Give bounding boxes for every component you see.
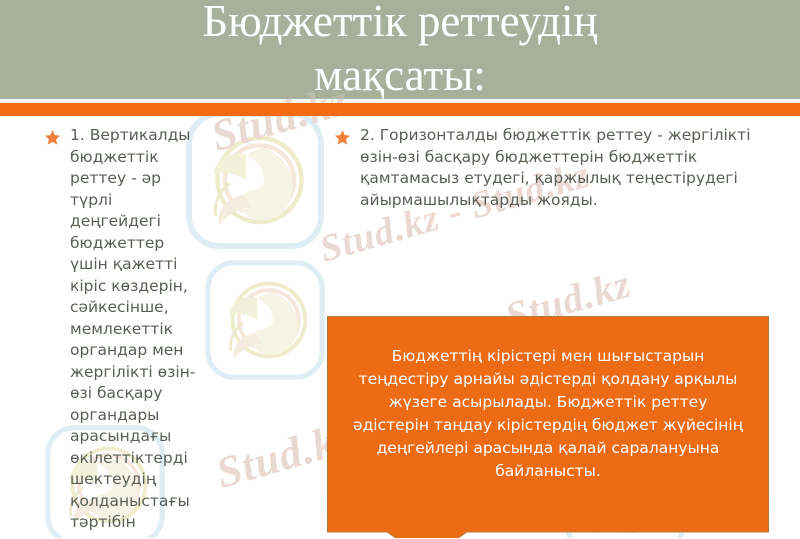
star-icon xyxy=(44,129,61,146)
callout-box-body: Бюджеттің кірістері мен шығыстарын теңде… xyxy=(327,316,769,503)
bullet-item-right: 2. Горизонталды бюджеттік реттеу - жергі… xyxy=(334,125,800,211)
page-title: Бюджеттік реттеудің мақсаты: xyxy=(0,0,800,102)
page-title-line-2: мақсаты: xyxy=(0,48,800,102)
accent-divider-rule xyxy=(0,103,800,116)
callout-box: Бюджеттің кірістері мен шығыстарын теңде… xyxy=(327,316,769,538)
bullet-item-left-text: 1. Вертикалды бюджеттік реттеу - әр түрл… xyxy=(70,125,202,538)
callout-text: Бюджеттің кірістері мен шығыстарын теңде… xyxy=(350,345,746,483)
callout-tail xyxy=(327,503,769,538)
bullet-item-left: 1. Вертикалды бюджеттік реттеу - әр түрл… xyxy=(44,125,212,538)
page-title-line-1: Бюджеттік реттеудің xyxy=(0,0,800,48)
star-icon xyxy=(334,129,351,146)
presentation-slide: Stud.kzStud.kz - Stud.kzStud.kzStud.kzd.… xyxy=(0,0,800,538)
bullet-item-right-text: 2. Горизонталды бюджеттік реттеу - жергі… xyxy=(360,125,790,211)
